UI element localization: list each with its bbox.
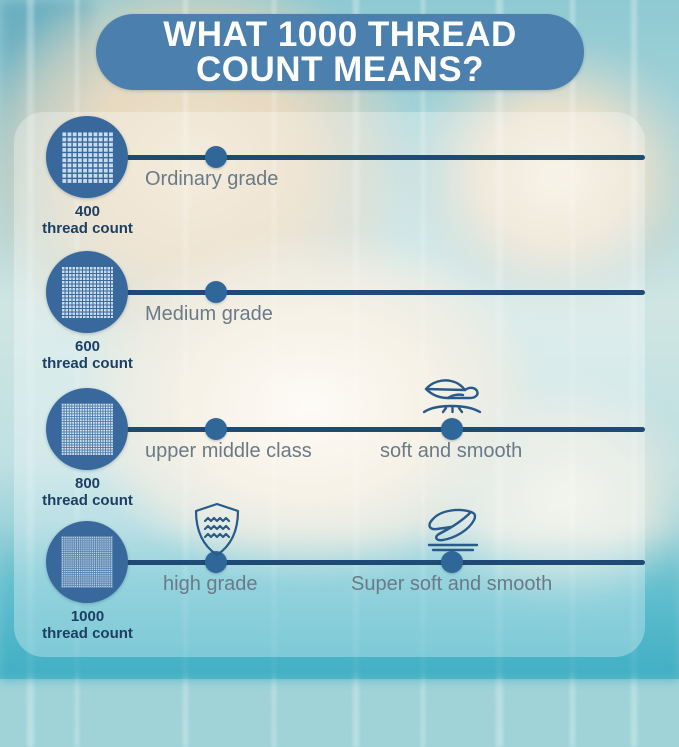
count-unit-800: thread count (0, 492, 175, 509)
count-unit-1000: thread count (0, 625, 175, 642)
title-line-2: COUNT MEANS? (163, 52, 517, 87)
shield-waves-icon (190, 500, 244, 565)
count-value-800: 800 (0, 475, 175, 492)
hand-touch-icon (418, 373, 488, 428)
grade-label-1000-1: high grade (163, 573, 258, 596)
page-title: WHAT 1000 THREAD COUNT MEANS? (163, 17, 517, 87)
mesh-600-icon (61, 266, 113, 318)
mesh-400-icon (61, 131, 113, 183)
grade-label-800-1: upper middle class (145, 440, 312, 463)
grade-label-800-2: soft and smooth (380, 440, 522, 463)
mesh-1000-icon (61, 536, 113, 588)
row-track-400 (112, 155, 645, 160)
row-marker-400-1 (205, 146, 227, 168)
count-label-800: 800 thread count (0, 475, 175, 509)
count-unit-400: thread count (0, 220, 175, 237)
feather-icon (415, 506, 489, 561)
badge-600 (46, 251, 128, 333)
count-label-600: 600 thread count (0, 338, 175, 372)
title-banner: WHAT 1000 THREAD COUNT MEANS? (96, 14, 584, 90)
badge-800 (46, 388, 128, 470)
row-track-800 (112, 427, 645, 432)
count-unit-600: thread count (0, 355, 175, 372)
grade-label-400-1: Ordinary grade (145, 168, 278, 191)
title-line-1: WHAT 1000 THREAD (163, 15, 517, 54)
grade-label-1000-2: Super soft and smooth (351, 573, 552, 596)
count-label-400: 400 thread count (0, 203, 175, 237)
badge-1000 (46, 521, 128, 603)
count-value-600: 600 (0, 338, 175, 355)
badge-400 (46, 116, 128, 198)
row-marker-600-1 (205, 281, 227, 303)
mesh-800-icon (61, 403, 113, 455)
row-track-600 (112, 290, 645, 295)
grade-label-600-1: Medium grade (145, 303, 273, 326)
count-value-1000: 1000 (0, 608, 175, 625)
count-value-400: 400 (0, 203, 175, 220)
row-marker-800-1 (205, 418, 227, 440)
count-label-1000: 1000 thread count (0, 608, 175, 642)
